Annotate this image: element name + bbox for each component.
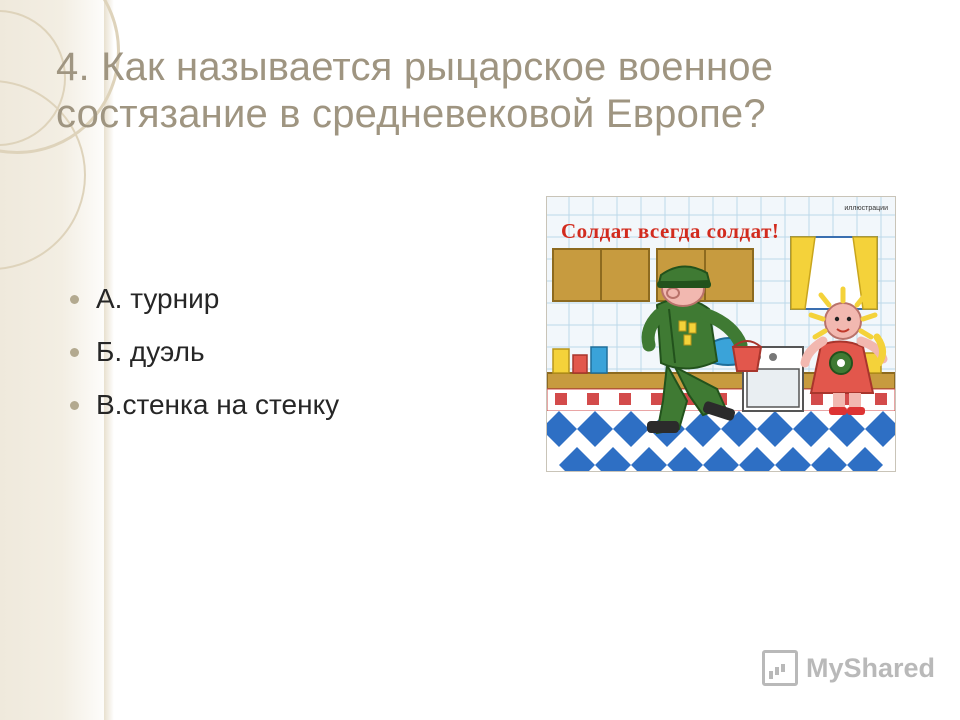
bullet-icon (70, 401, 79, 410)
list-item[interactable]: Б. дуэль (62, 335, 532, 369)
illustration-image: Солдат всегда солдат! иллюстрации (546, 196, 896, 472)
bullet-icon (70, 295, 79, 304)
illustration-corner-text: иллюстрации (844, 205, 888, 212)
answer-label: А. турнир (96, 283, 219, 314)
myshared-logo-icon (762, 650, 798, 686)
list-item[interactable]: В.стенка на стенку (62, 388, 532, 422)
bullet-icon (70, 348, 79, 357)
answer-list: А. турнир Б. дуэль В.стенка на стенку (62, 282, 532, 441)
answer-label: Б. дуэль (96, 336, 205, 367)
page-title: 4. Как называется рыцарское военное сост… (56, 44, 936, 138)
answer-label: В.стенка на стенку (96, 389, 339, 420)
watermark-label: MyShared (806, 653, 935, 684)
watermark: MyShared (762, 650, 935, 686)
slide: 4. Как называется рыцарское военное сост… (0, 0, 960, 720)
illustration-caption: Солдат всегда солдат! (561, 219, 779, 244)
list-item[interactable]: А. турнир (62, 282, 532, 316)
